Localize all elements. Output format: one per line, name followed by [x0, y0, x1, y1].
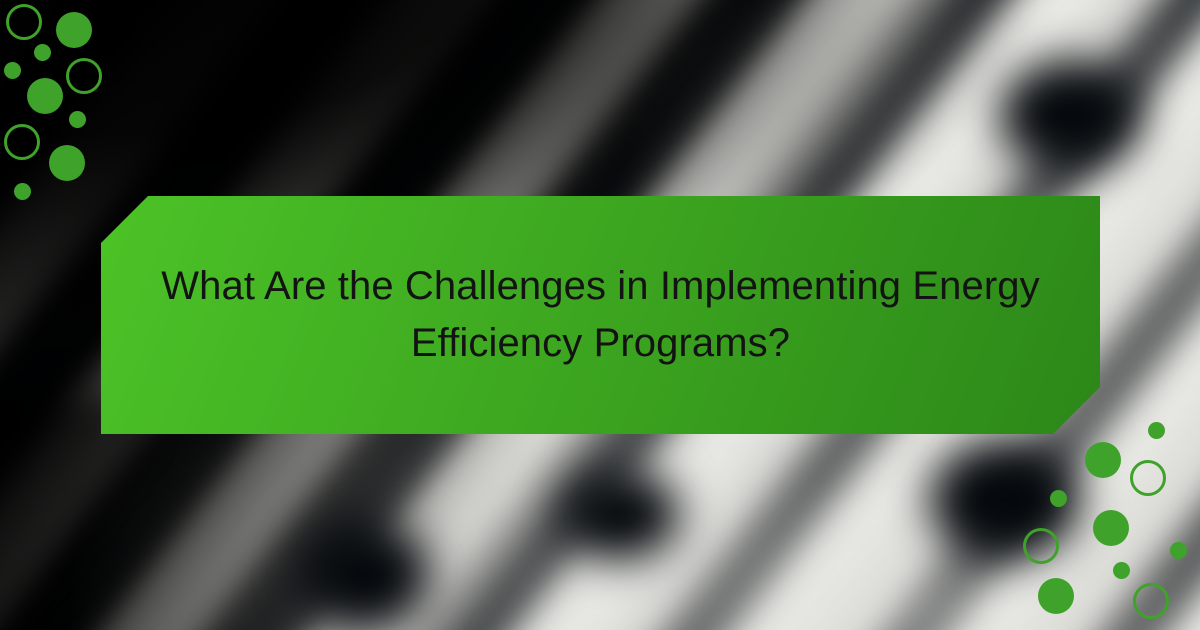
background-blur-blob: [300, 520, 430, 630]
background-blur-blob: [560, 470, 680, 560]
background-blur-blob: [930, 440, 1080, 560]
title-banner: What Are the Challenges in Implementing …: [101, 196, 1100, 434]
page-title: What Are the Challenges in Implementing …: [101, 258, 1100, 372]
background-blur-blob: [1000, 60, 1140, 170]
social-share-card: What Are the Challenges in Implementing …: [0, 0, 1200, 630]
